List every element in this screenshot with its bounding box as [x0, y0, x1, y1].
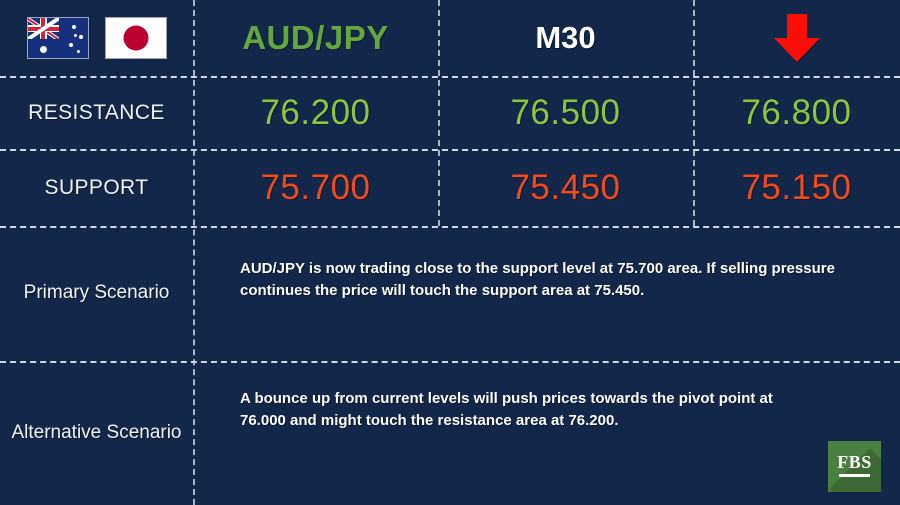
- resistance-value-1: 76.200: [260, 93, 370, 133]
- arrow-down-icon: [774, 14, 820, 62]
- alternative-scenario-label: Alternative Scenario: [11, 419, 181, 448]
- alternative-scenario-label-cell: Alternative Scenario: [0, 361, 193, 505]
- forex-signal-board: AUD/JPY M30 RESISTANCE 76.200 76.500 76.…: [0, 0, 900, 505]
- support-value-2-cell: 75.450: [438, 149, 693, 226]
- flags-cell: [0, 0, 193, 76]
- support-value-2: 75.450: [510, 168, 620, 208]
- japan-flag-icon: [105, 17, 167, 59]
- resistance-value-3: 76.800: [741, 93, 851, 133]
- fbs-logo: FBS: [828, 441, 881, 492]
- support-value-1-cell: 75.700: [193, 149, 438, 226]
- alternative-scenario-text: A bounce up from current levels will pus…: [240, 388, 800, 432]
- resistance-value-2: 76.500: [510, 93, 620, 133]
- primary-scenario-text: AUD/JPY is now trading close to the supp…: [240, 258, 848, 302]
- resistance-value-2-cell: 76.500: [438, 76, 693, 149]
- support-label: SUPPORT: [45, 176, 149, 200]
- support-value-1: 75.700: [260, 168, 370, 208]
- resistance-label: RESISTANCE: [28, 101, 165, 125]
- primary-scenario-label: Primary Scenario: [24, 279, 170, 308]
- flag-pair: [27, 17, 167, 59]
- currency-pair-title: AUD/JPY: [242, 19, 389, 57]
- support-label-cell: SUPPORT: [0, 149, 193, 226]
- support-value-3: 75.150: [741, 168, 851, 208]
- resistance-value-1-cell: 76.200: [193, 76, 438, 149]
- support-value-3-cell: 75.150: [693, 149, 900, 226]
- resistance-label-cell: RESISTANCE: [0, 76, 193, 149]
- currency-pair-cell: AUD/JPY: [193, 0, 438, 76]
- trend-cell: [693, 0, 900, 76]
- timeframe-title: M30: [535, 20, 595, 56]
- timeframe-cell: M30: [438, 0, 693, 76]
- fbs-logo-underline: [839, 474, 870, 477]
- primary-scenario-label-cell: Primary Scenario: [0, 226, 193, 361]
- fbs-logo-text: FBS: [828, 452, 881, 473]
- australia-flag-icon: [27, 17, 89, 59]
- resistance-value-3-cell: 76.800: [693, 76, 900, 149]
